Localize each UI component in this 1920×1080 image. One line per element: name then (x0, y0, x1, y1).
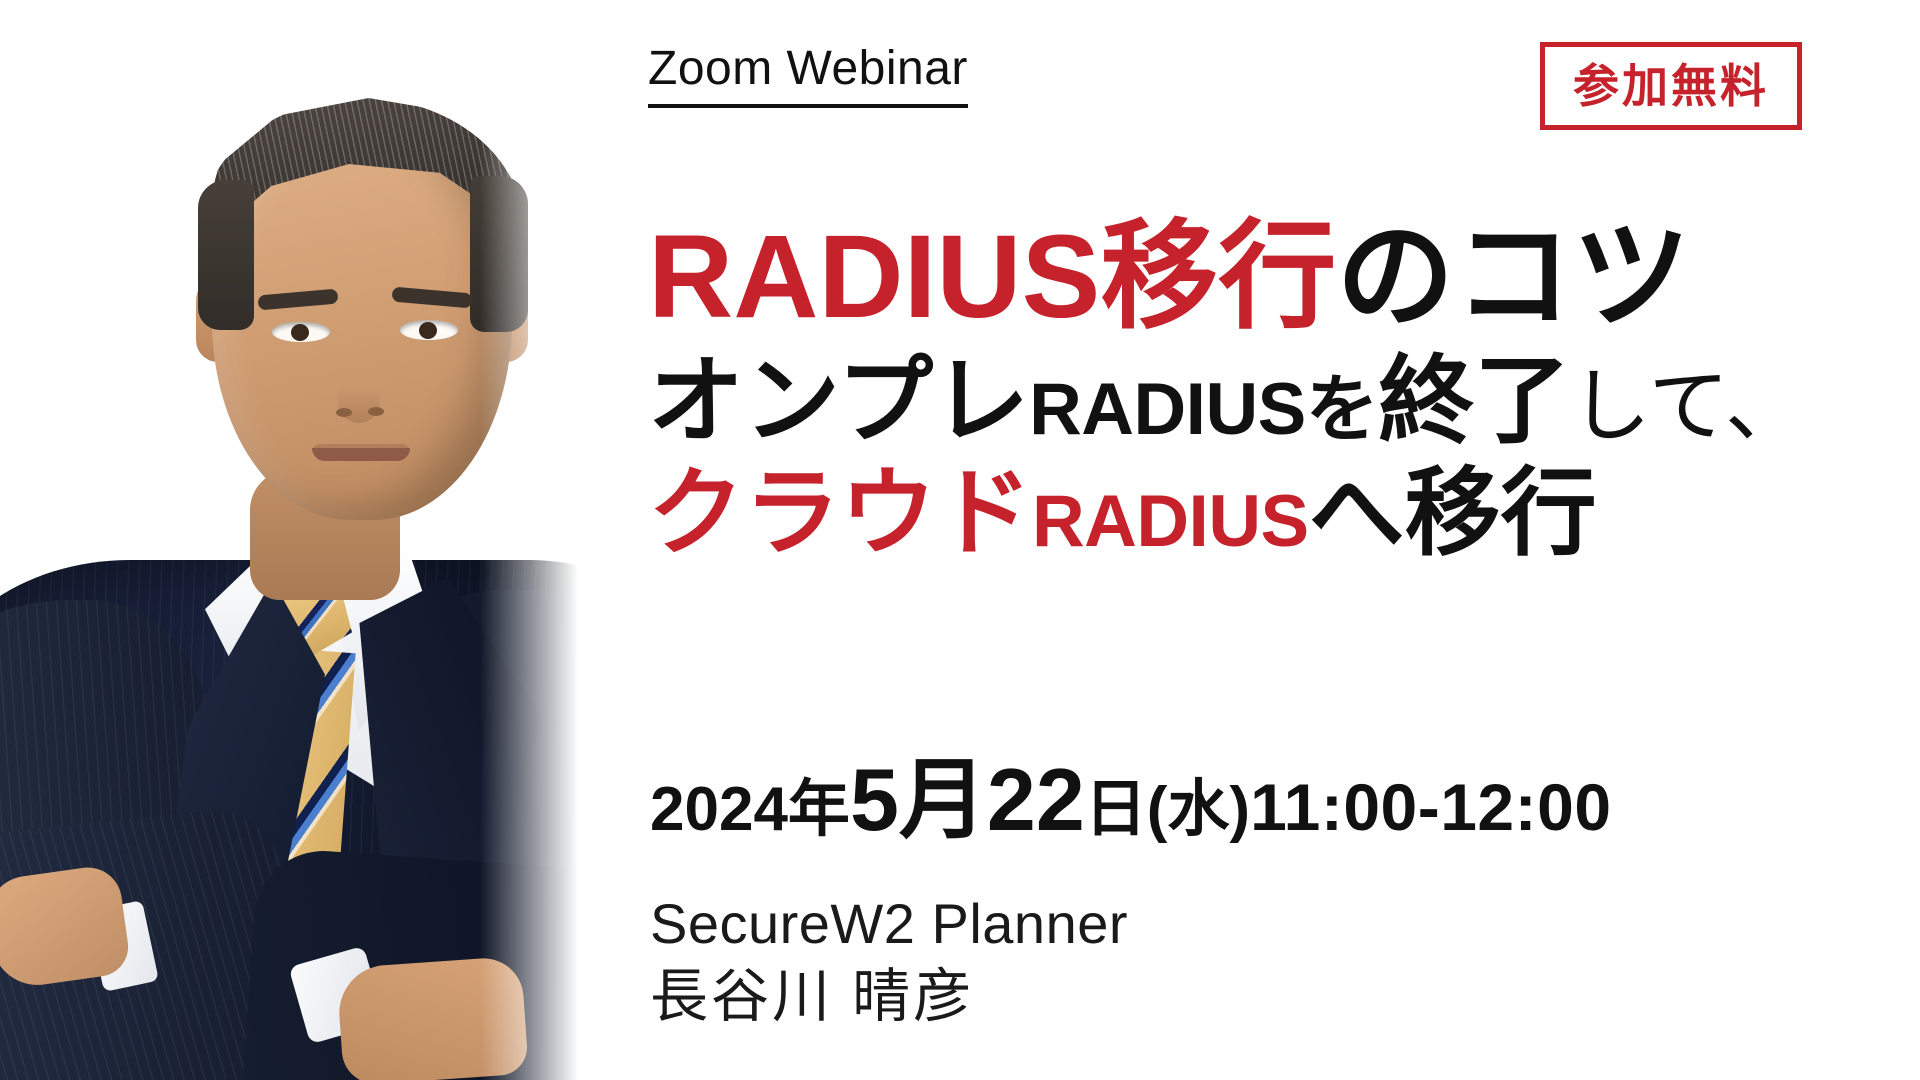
hair-side-left (198, 180, 254, 330)
headline-2-big: オンプレ (648, 348, 1029, 455)
speaker-name: 長谷川 晴彦 (650, 960, 1128, 1034)
headline-3-big: クラウド (648, 460, 1032, 567)
pupil-left (291, 324, 309, 341)
schedule-year: 2024年 (650, 775, 850, 844)
schedule-weekday: (水) (1147, 775, 1250, 844)
photo-edge-fade (480, 0, 600, 1080)
headline-line-2: オンプレRADIUSを終了して、 (648, 354, 1878, 450)
speaker-info: SecureW2 Planner 長谷川 晴彦 (650, 888, 1128, 1034)
speaker-photo (0, 0, 600, 1080)
schedule-day-unit: 日 (1085, 775, 1147, 844)
mouth (312, 448, 410, 461)
headline-1-black: のコツ (1336, 211, 1690, 343)
schedule-time: 11:00-12:00 (1250, 770, 1611, 844)
free-admission-badge: 参加無料 (1540, 42, 1802, 130)
headline: RADIUS移行のコツ オンプレRADIUSを終了して、 クラウドRADIUSへ… (648, 218, 1878, 562)
headline-3-black: へ移行 (1309, 460, 1597, 567)
webinar-banner: Zoom Webinar 参加無料 RADIUS移行のコツ オンプレRADIUS… (0, 0, 1920, 1080)
headline-2-light: して、 (1570, 362, 1805, 452)
hand-left (0, 863, 132, 991)
headline-3-mid: RADIUS (1032, 481, 1309, 562)
headline-2-mid: RADIUSを (1029, 369, 1378, 450)
schedule-month-day: 5月22 (850, 750, 1085, 849)
headline-1-red: RADIUS移行 (648, 211, 1336, 343)
free-admission-label: 参加無料 (1573, 63, 1769, 109)
schedule: 2024年5月22日(水)11:00-12:00 (650, 756, 1612, 844)
headline-line-3: クラウドRADIUSへ移行 (648, 466, 1878, 562)
nostril-right (368, 407, 384, 416)
speaker-role: SecureW2 Planner (650, 888, 1128, 960)
headline-line-1: RADIUS移行のコツ (648, 218, 1878, 336)
headline-2-big2: 終了 (1378, 348, 1570, 455)
nostril-left (336, 408, 352, 417)
pupil-right (419, 322, 437, 339)
event-type-label: Zoom Webinar (648, 40, 968, 108)
